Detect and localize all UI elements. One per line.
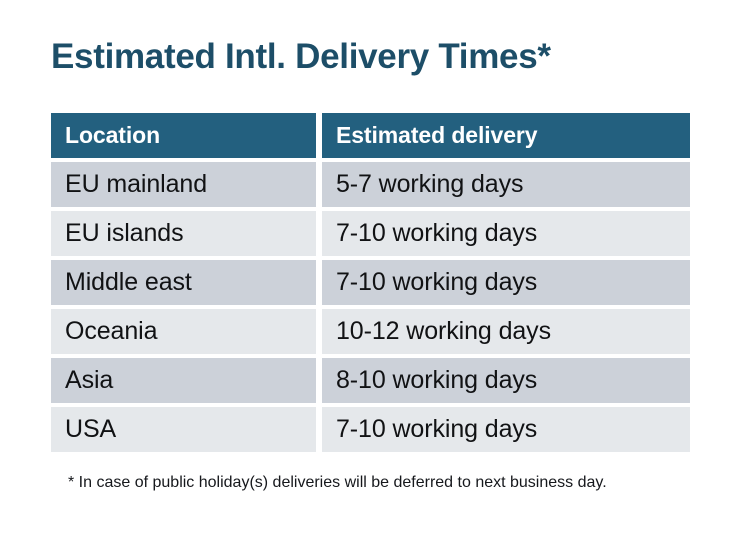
footnote-text: * In case of public holiday(s) deliverie… [68,472,607,494]
cell-location: EU islands [51,211,316,256]
cell-location: Middle east [51,260,316,305]
table-row: Oceania 10-12 working days [51,309,690,354]
column-header-estimated-delivery: Estimated delivery [322,113,690,158]
table-row: EU mainland 5-7 working days [51,162,690,207]
cell-estimated-delivery: 7-10 working days [322,211,690,256]
delivery-times-page: Estimated Intl. Delivery Times* Location… [0,0,745,536]
cell-estimated-delivery: 5-7 working days [322,162,690,207]
cell-estimated-delivery: 7-10 working days [322,407,690,452]
cell-estimated-delivery: 8-10 working days [322,358,690,403]
table-header-row: Location Estimated delivery [51,113,690,158]
cell-location: EU mainland [51,162,316,207]
delivery-times-table: Location Estimated delivery EU mainland … [51,113,690,452]
cell-estimated-delivery: 7-10 working days [322,260,690,305]
table-row: Asia 8-10 working days [51,358,690,403]
cell-location: USA [51,407,316,452]
cell-location: Asia [51,358,316,403]
page-title: Estimated Intl. Delivery Times* [51,36,551,78]
column-header-location: Location [51,113,316,158]
cell-estimated-delivery: 10-12 working days [322,309,690,354]
table-row: EU islands 7-10 working days [51,211,690,256]
table-row: USA 7-10 working days [51,407,690,452]
cell-location: Oceania [51,309,316,354]
table-row: Middle east 7-10 working days [51,260,690,305]
